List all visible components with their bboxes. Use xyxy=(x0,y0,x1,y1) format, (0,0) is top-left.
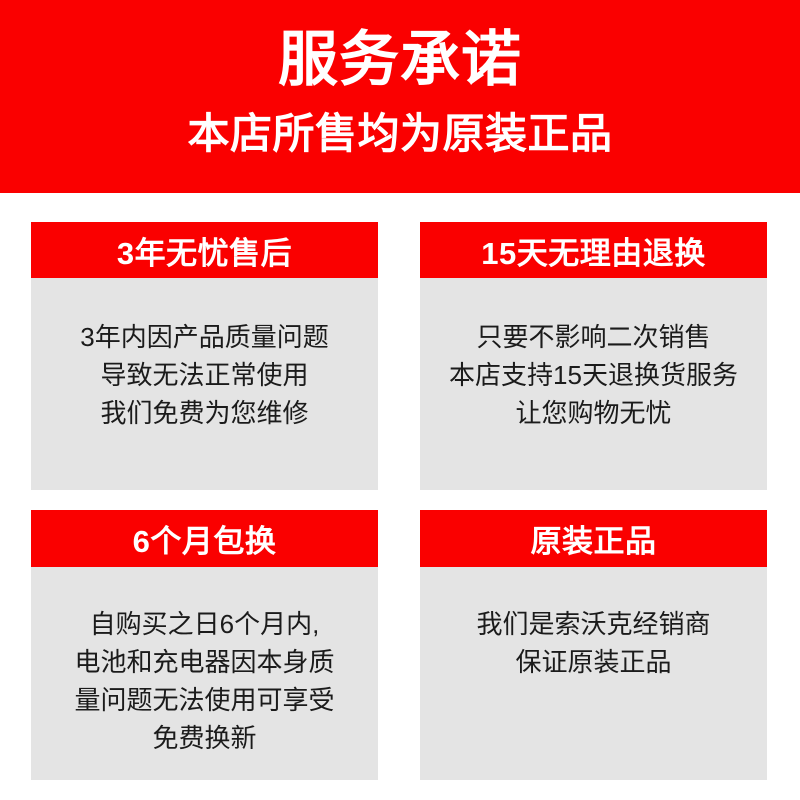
card-body: 我们是索沃克经销商 保证原装正品 xyxy=(420,567,767,780)
promise-card-authentic: 原装正品 我们是索沃克经销商 保证原装正品 xyxy=(420,510,767,780)
card-body: 只要不影响二次销售 本店支持15天退换货服务 让您购物无忧 xyxy=(420,278,767,490)
card-body-line: 电池和充电器因本身质 xyxy=(74,643,334,681)
card-body-line: 我们是索沃克经销商 xyxy=(476,605,710,643)
card-body-line: 只要不影响二次销售 xyxy=(476,318,710,356)
promise-card-returns: 15天无理由退换 只要不影响二次销售 本店支持15天退换货服务 让您购物无忧 xyxy=(420,222,767,490)
card-header-title: 15天无理由退换 xyxy=(420,222,767,278)
card-body-line: 免费换新 xyxy=(152,719,256,757)
card-header-title: 6个月包换 xyxy=(31,510,378,567)
card-header-title: 3年无忧售后 xyxy=(31,222,378,278)
promise-card-exchange: 6个月包换 自购买之日6个月内, 电池和充电器因本身质 量问题无法使用可享受 免… xyxy=(31,510,378,780)
promise-card-grid: 3年无忧售后 3年内因产品质量问题 导致无法正常使用 我们免费为您维修 15天无… xyxy=(31,222,762,780)
card-body-line: 让您购物无忧 xyxy=(515,394,671,432)
card-body-line: 我们免费为您维修 xyxy=(100,394,308,432)
card-body: 3年内因产品质量问题 导致无法正常使用 我们免费为您维修 xyxy=(31,278,378,490)
card-header-title: 原装正品 xyxy=(420,510,767,567)
service-promise-page: 服务承诺 本店所售均为原装正品 3年无忧售后 3年内因产品质量问题 导致无法正常… xyxy=(0,0,800,800)
service-promise-banner: 服务承诺 本店所售均为原装正品 xyxy=(0,0,800,193)
card-body-line: 3年内因产品质量问题 xyxy=(80,318,328,356)
card-body-line: 保证原装正品 xyxy=(515,643,671,681)
card-body-line: 量问题无法使用可享受 xyxy=(74,681,334,719)
card-body-line: 自购买之日6个月内, xyxy=(90,605,320,643)
banner-title: 服务承诺 xyxy=(278,28,522,93)
promise-card-after-sales: 3年无忧售后 3年内因产品质量问题 导致无法正常使用 我们免费为您维修 xyxy=(31,222,378,490)
card-body-line: 导致无法正常使用 xyxy=(100,356,308,394)
card-body-line: 本店支持15天退换货服务 xyxy=(449,356,738,394)
card-body: 自购买之日6个月内, 电池和充电器因本身质 量问题无法使用可享受 免费换新 xyxy=(31,567,378,780)
banner-subtitle: 本店所售均为原装正品 xyxy=(187,111,612,157)
